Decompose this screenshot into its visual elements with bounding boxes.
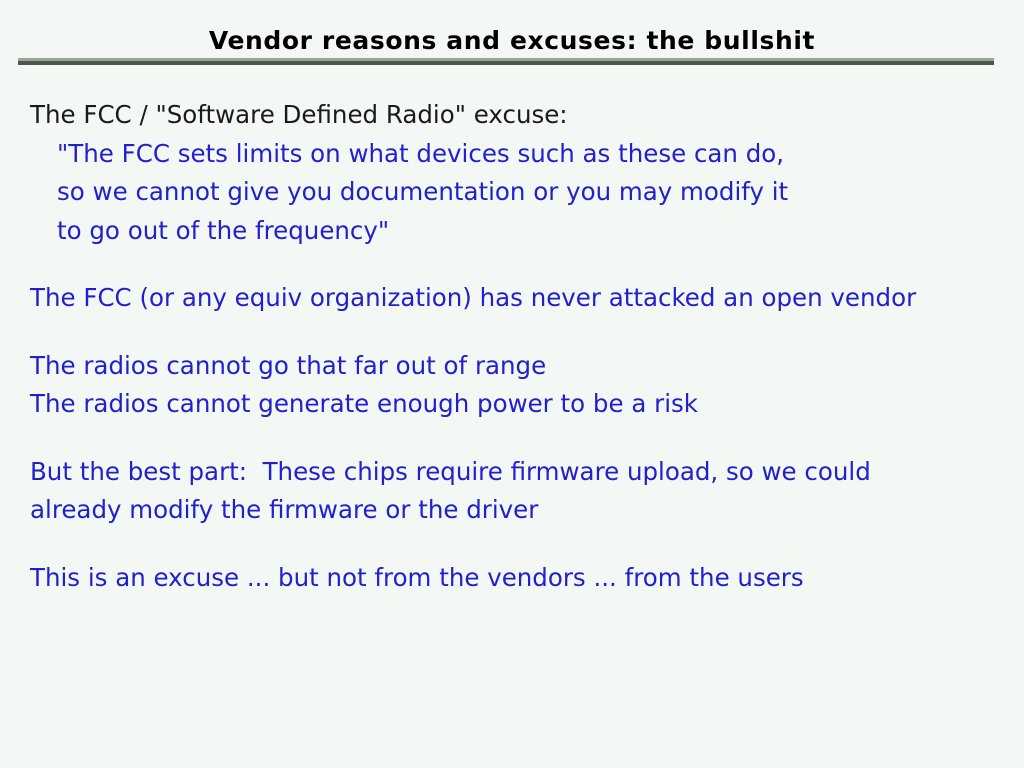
- spacer-after-never-attacked: [0, 318, 1024, 347]
- spacer-after-quote: [0, 250, 1024, 279]
- title-divider-rule: [18, 58, 994, 65]
- paragraph-best-part-line-1: But the best part: These chips require f…: [0, 453, 1024, 492]
- paragraph-never-attacked: The FCC (or any equiv organization) has …: [0, 279, 1024, 318]
- rule-band-dark: [18, 61, 994, 65]
- slide-title: Vendor reasons and excuses: the bullshit: [0, 26, 1024, 55]
- quote-line-3: to go out of the frequency": [0, 212, 1024, 251]
- intro-line: The FCC / "Software Defined Radio" excus…: [0, 96, 1024, 135]
- paragraph-conclusion: This is an excuse ... but not from the v…: [0, 559, 1024, 598]
- presentation-slide: Vendor reasons and excuses: the bullshit…: [0, 0, 1024, 768]
- quote-line-1: "The FCC sets limits on what devices suc…: [0, 135, 1024, 174]
- paragraph-radios-range: The radios cannot go that far out of ran…: [0, 347, 1024, 386]
- paragraph-best-part-line-2: already modify the firmware or the drive…: [0, 491, 1024, 530]
- slide-body: The FCC / "Software Defined Radio" excus…: [0, 96, 1024, 597]
- spacer-after-radios: [0, 424, 1024, 453]
- spacer-after-best-part: [0, 530, 1024, 559]
- quote-line-2: so we cannot give you documentation or y…: [0, 173, 1024, 212]
- paragraph-radios-power: The radios cannot generate enough power …: [0, 385, 1024, 424]
